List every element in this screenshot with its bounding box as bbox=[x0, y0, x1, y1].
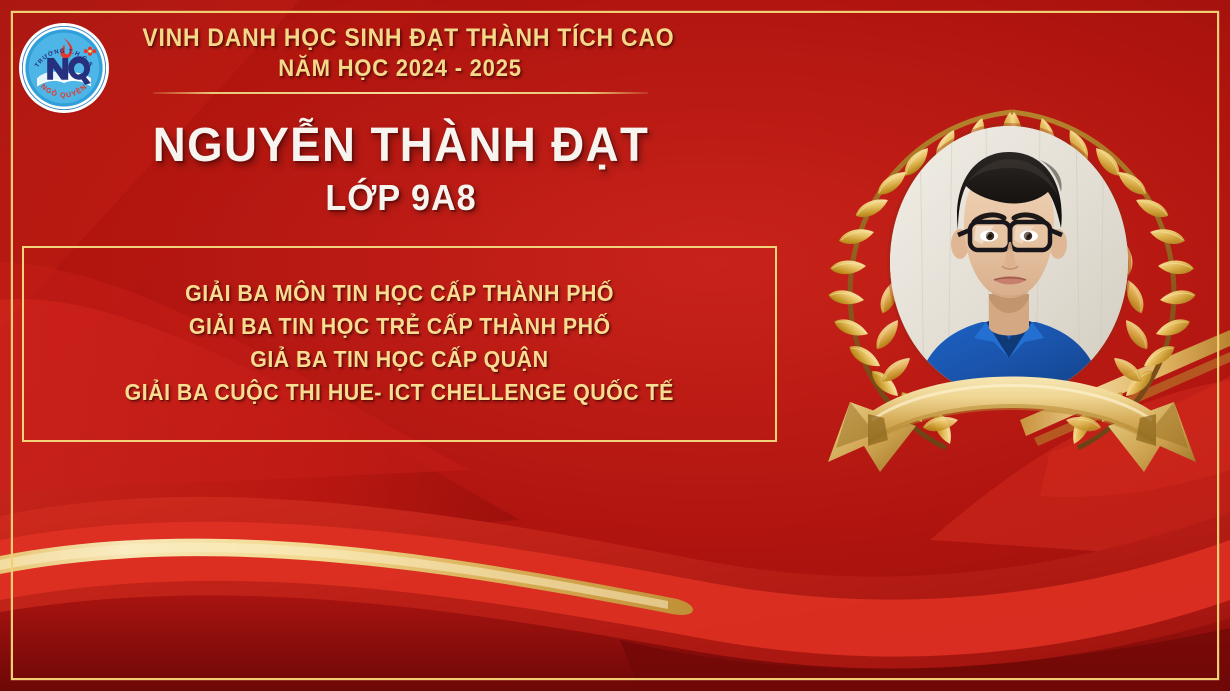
student-name: NGUYỄN THÀNH ĐẠT bbox=[102, 118, 701, 173]
award-item: GIẢI BA CUỘC THI HUE- ICT CHELLENGE QUỐC… bbox=[125, 381, 674, 404]
laurel-emblem bbox=[806, 96, 1218, 496]
award-item: GIẢI BA TIN HỌC TRẺ CẤP THÀNH PHỐ bbox=[189, 315, 611, 338]
school-logo: TRƯỜNG T.H.C.S NGÔ QUYỀN bbox=[22, 26, 106, 110]
header-block: VINH DANH HỌC SINH ĐẠT THÀNH TÍCH CAO NĂ… bbox=[120, 24, 680, 94]
header-title-line2: NĂM HỌC 2024 - 2025 bbox=[142, 56, 657, 83]
award-item: GIẢI BA MÔN TIN HỌC CẤP THÀNH PHỐ bbox=[185, 282, 614, 305]
student-portrait bbox=[890, 126, 1128, 398]
header-divider bbox=[153, 92, 648, 94]
header-title-line1: VINH DANH HỌC SINH ĐẠT THÀNH TÍCH CAO bbox=[142, 24, 657, 52]
award-item: GIẢ BA TIN HỌC CẤP QUẬN bbox=[250, 348, 548, 371]
award-poster: TRƯỜNG T.H.C.S NGÔ QUYỀN VINH DANH HỌC S… bbox=[0, 0, 1230, 691]
awards-panel: GIẢI BA MÔN TIN HỌC CẤP THÀNH PHỐ GIẢI B… bbox=[22, 246, 777, 442]
student-class: LỚP 9A8 bbox=[102, 177, 701, 219]
